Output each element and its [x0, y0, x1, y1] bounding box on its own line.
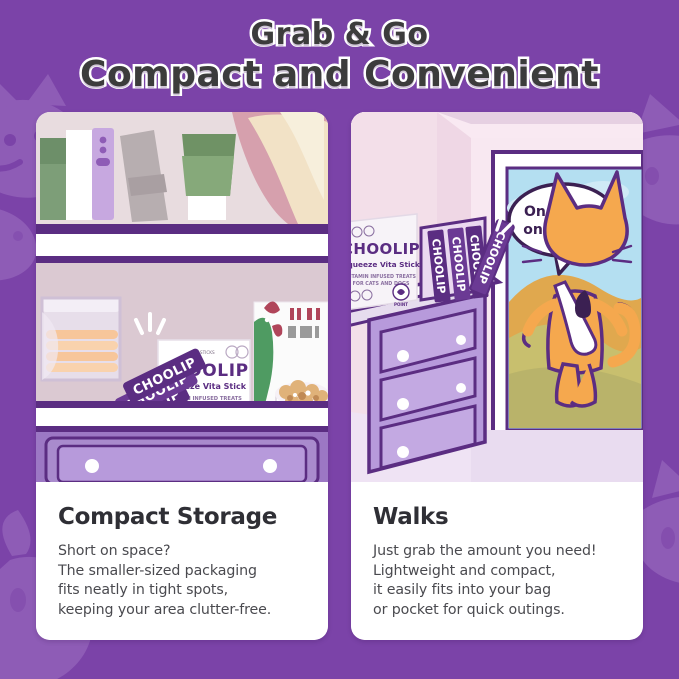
- caption-walks: Walks Just grab the amount you need! Lig…: [351, 482, 643, 640]
- banner-header: Grab & Go Compact and Convenient: [0, 18, 679, 96]
- promo-banner: Grab & Go Compact and Convenient: [0, 0, 679, 679]
- caption-compact-storage: Compact Storage Short on space? The smal…: [36, 482, 328, 640]
- panel-compact-storage: 15 STICKS CHOOLIP Squeeze Vita Stick VIT…: [36, 112, 328, 640]
- svg-text:CHOOLIP: CHOOLIP: [351, 240, 420, 258]
- scene-pantry-shelf: 15 STICKS CHOOLIP Squeeze Vita Stick VIT…: [36, 112, 328, 482]
- caption-title: Walks: [373, 504, 621, 530]
- svg-text:Squeeze Vita Stick: Squeeze Vita Stick: [351, 260, 421, 269]
- caption-body: Short on space? The smaller-sized packag…: [58, 542, 306, 620]
- caption-body: Just grab the amount you need! Lightweig…: [373, 542, 621, 620]
- header-title-line2: Compact and Convenient: [0, 54, 679, 96]
- svg-text:VITAMIN INFUSED TREATS: VITAMIN INFUSED TREATS: [351, 274, 417, 280]
- caption-title: Compact Storage: [58, 504, 306, 530]
- panel-walks: One walk, one treat!: [351, 112, 643, 640]
- svg-text:POINT: POINT: [394, 302, 408, 307]
- header-title-line1: Grab & Go: [0, 18, 679, 52]
- scene-hallway-doorway: One walk, one treat!: [351, 112, 643, 482]
